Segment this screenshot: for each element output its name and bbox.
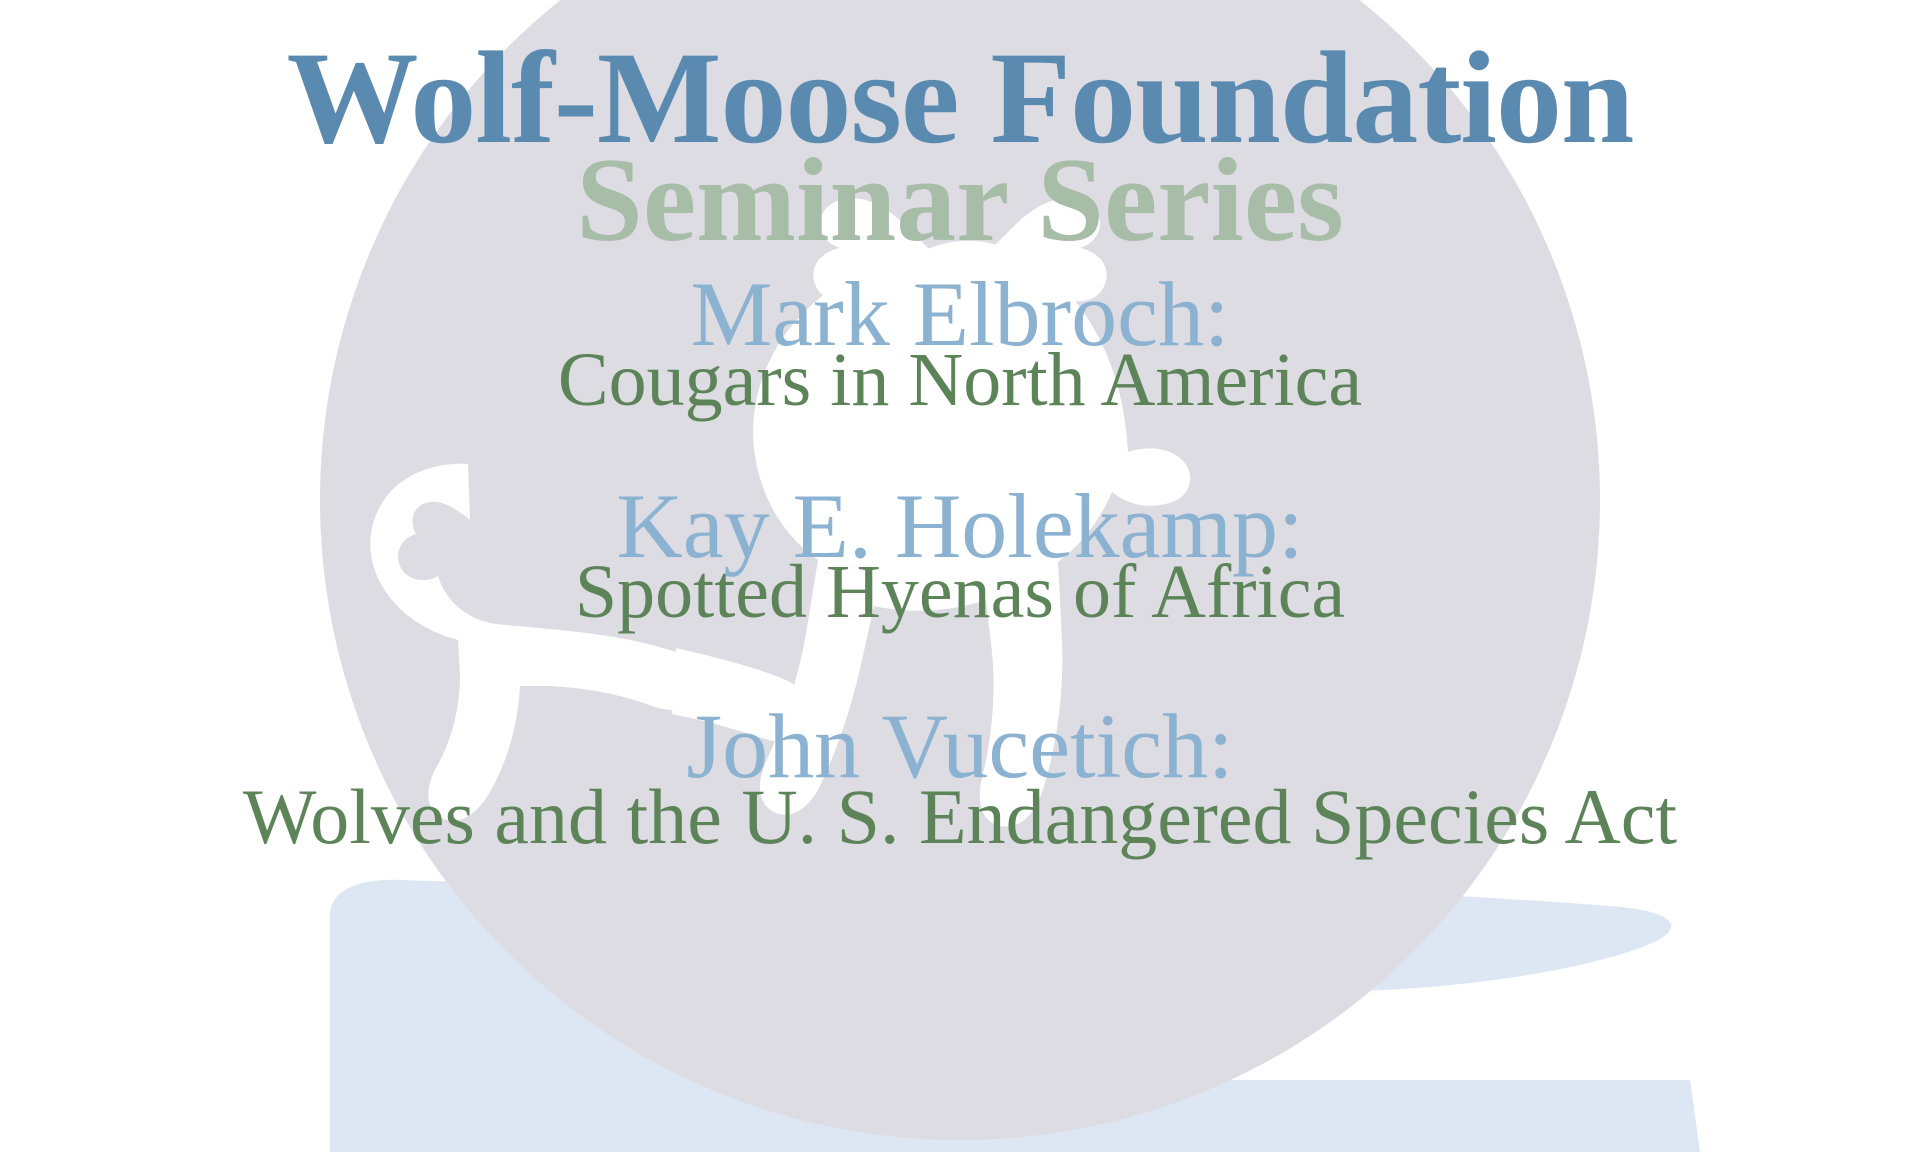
speaker-3-topic: Wolves and the U. S. Endangered Species … bbox=[0, 778, 1920, 856]
speaker-1-topic: Cougars in North America bbox=[0, 342, 1920, 418]
seminar-poster: Wolf-Moose Foundation Seminar Series Mar… bbox=[0, 0, 1920, 1152]
poster-text-layer: Wolf-Moose Foundation Seminar Series Mar… bbox=[0, 0, 1920, 1152]
speaker-2-topic: Spotted Hyenas of Africa bbox=[0, 554, 1920, 630]
page-subtitle: Seminar Series bbox=[0, 140, 1920, 260]
